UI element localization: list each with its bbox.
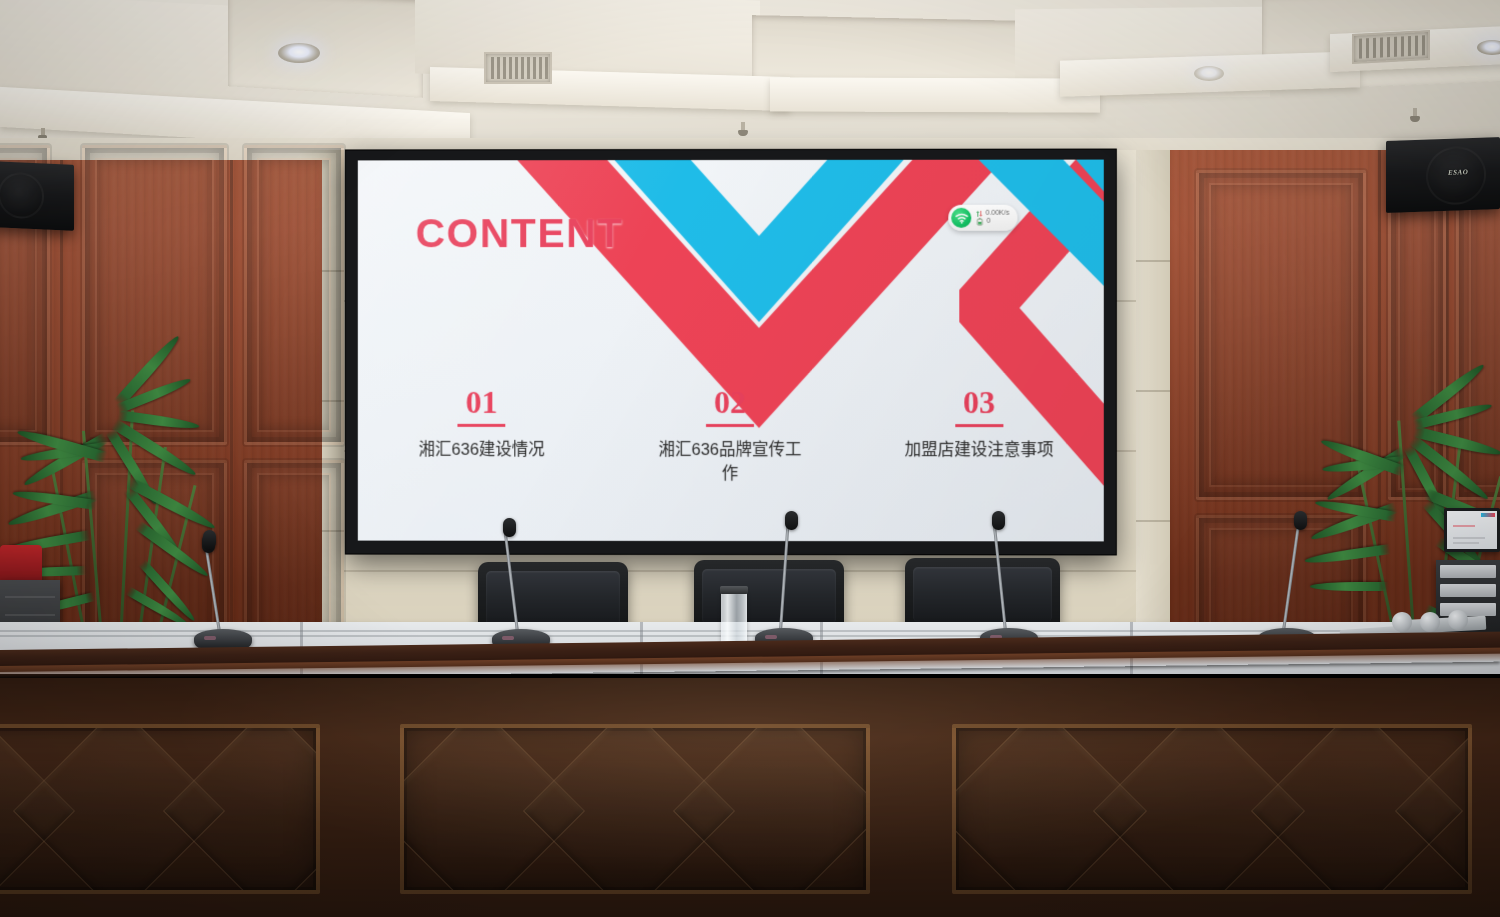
agenda-item-number: 02 bbox=[706, 386, 754, 427]
conference-room-scene: CONTENT bbox=[0, 0, 1500, 917]
battery-icon bbox=[977, 218, 984, 226]
desk-panel bbox=[0, 724, 320, 894]
wall-speaker-right: ESAO bbox=[1386, 137, 1500, 213]
conference-microphone[interactable] bbox=[980, 505, 1040, 647]
wall-speaker-left bbox=[0, 161, 74, 231]
conference-microphone[interactable] bbox=[194, 518, 254, 648]
network-count-value: 0 bbox=[987, 218, 991, 225]
agenda-item-text: 湘汇636建设情况 bbox=[368, 439, 596, 463]
conference-microphone[interactable] bbox=[492, 510, 552, 648]
led-display-screen[interactable]: CONTENT bbox=[346, 150, 1116, 555]
desk-sphere-ornament bbox=[1392, 612, 1412, 632]
ceiling-air-vent bbox=[1352, 30, 1430, 64]
foreground-podium-desk bbox=[0, 650, 1500, 917]
sprinkler-head bbox=[738, 122, 748, 138]
agenda-item-number: 01 bbox=[458, 386, 506, 427]
agenda-item: 02 湘汇636品牌宣传工作 bbox=[606, 386, 855, 487]
wifi-icon bbox=[952, 208, 972, 228]
network-speed-widget[interactable]: 0.00K/s 0 bbox=[949, 205, 1018, 231]
av-control-monitor[interactable] bbox=[1444, 508, 1500, 552]
sprinkler-head bbox=[1410, 108, 1420, 124]
desk-sphere-ornament bbox=[1420, 612, 1440, 632]
speaker-brand-label: ESAO bbox=[1448, 168, 1468, 177]
ceiling-downlight bbox=[1477, 40, 1500, 55]
ceiling-downlight bbox=[1194, 66, 1224, 81]
agenda-item-text: 湘汇636品牌宣传工作 bbox=[653, 439, 808, 487]
conference-microphone[interactable] bbox=[755, 505, 815, 647]
updown-arrows-icon bbox=[977, 210, 983, 218]
agenda-item: 01 湘汇636建设情况 bbox=[358, 386, 606, 487]
desk-panel bbox=[952, 724, 1472, 894]
agenda-item-text: 加盟店建设注意事项 bbox=[864, 439, 1093, 463]
slide-title: CONTENT bbox=[416, 210, 624, 257]
wall-panel bbox=[244, 145, 344, 445]
ceiling-downlight bbox=[278, 43, 320, 63]
desk-sphere-ornament bbox=[1448, 610, 1468, 630]
agenda-item-number: 03 bbox=[955, 386, 1003, 427]
ceiling-air-vent bbox=[484, 52, 552, 84]
desk-panel bbox=[400, 724, 870, 894]
agenda-item: 03 加盟店建设注意事项 bbox=[854, 386, 1103, 487]
presentation-slide: CONTENT bbox=[358, 160, 1104, 542]
water-glass[interactable] bbox=[721, 590, 747, 646]
conference-microphone[interactable] bbox=[1258, 505, 1318, 647]
ceiling bbox=[0, 0, 1500, 152]
network-speed-value: 0.00K/s bbox=[986, 210, 1010, 217]
slide-agenda-items: 01 湘汇636建设情况 02 湘汇636品牌宣传工作 03 加盟店建设注意事项 bbox=[358, 386, 1104, 487]
